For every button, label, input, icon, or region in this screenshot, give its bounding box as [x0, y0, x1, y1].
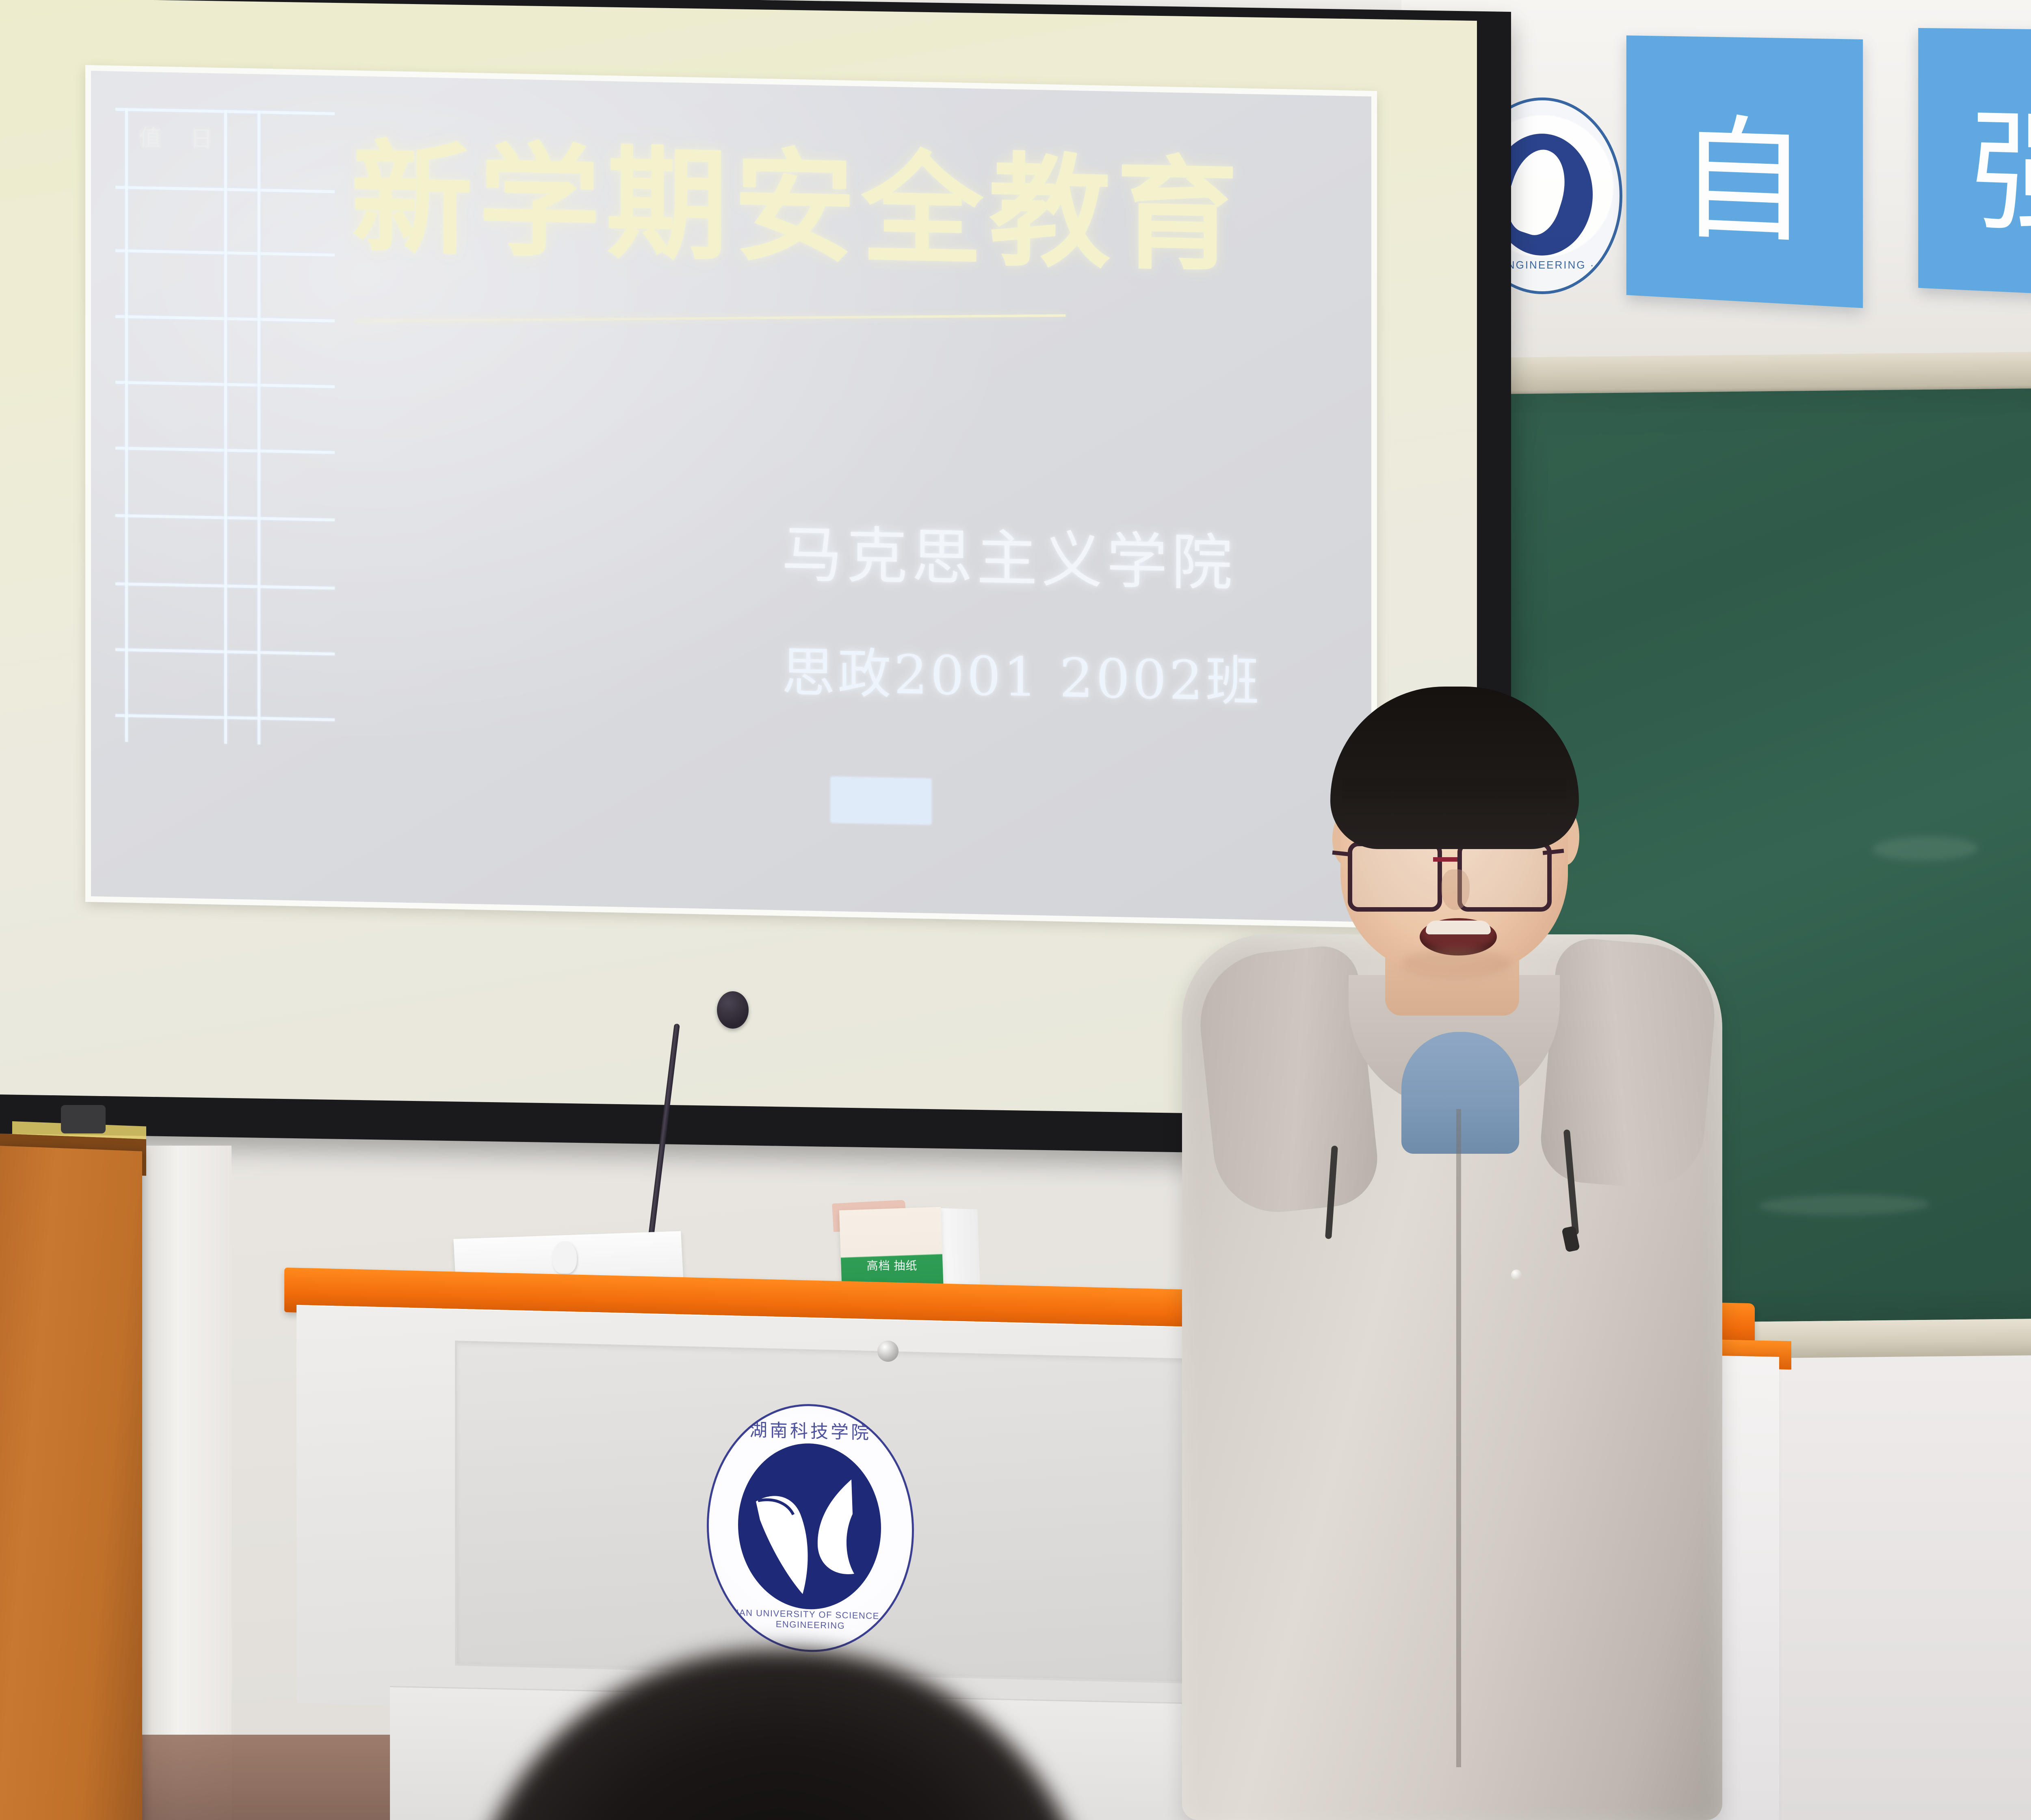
motto-char: 自	[1678, 71, 1808, 270]
eyeglasses-lens-right	[1457, 842, 1552, 912]
eyeglasses-bridge	[1433, 857, 1457, 862]
podium-lock[interactable]	[877, 1341, 899, 1362]
podium-logo-chinese: 湖南科技学院	[709, 1414, 912, 1445]
microphone-capsule[interactable]	[717, 991, 749, 1029]
cabinet-clamp	[61, 1105, 106, 1133]
classroom-photo-scene: · ENGINEERING · 自 强 不 息	[0, 0, 2031, 1820]
motto-tile-1: 自	[1626, 35, 1863, 308]
chalk-smudge	[1873, 836, 1978, 862]
teeth	[1426, 921, 1491, 934]
motto-char: 强	[1970, 63, 2031, 261]
slide-accent-chip	[830, 776, 932, 825]
podium-university-logo: 湖南科技学院 HUNAN UNIVERSITY OF SCIENCE AND E…	[707, 1402, 914, 1654]
hair-bangs	[1342, 778, 1567, 835]
duty-roster-table-graphic	[115, 108, 335, 746]
chalk-smudge	[1759, 1194, 1929, 1216]
slide-title: 新学期安全教育	[351, 137, 1285, 280]
jacket-zipper	[1456, 1109, 1461, 1767]
nose	[1441, 869, 1470, 910]
jacket-hood-right	[1537, 936, 1721, 1193]
roster-cell-label: 值 日	[139, 120, 245, 155]
left-wall-strip	[142, 1146, 232, 1820]
wooden-cabinet-panel	[0, 1146, 142, 1820]
jacket-snap-button	[1511, 1270, 1522, 1280]
chin-shadow	[1401, 949, 1511, 977]
slide-organization: 马克思主义学院	[782, 505, 1371, 605]
logo-bird-swoosh	[748, 1452, 870, 1601]
student-presenter	[1158, 691, 1747, 1820]
eyeglasses-lens-left	[1348, 842, 1442, 912]
motto-tile-2: 强	[1918, 28, 2031, 299]
